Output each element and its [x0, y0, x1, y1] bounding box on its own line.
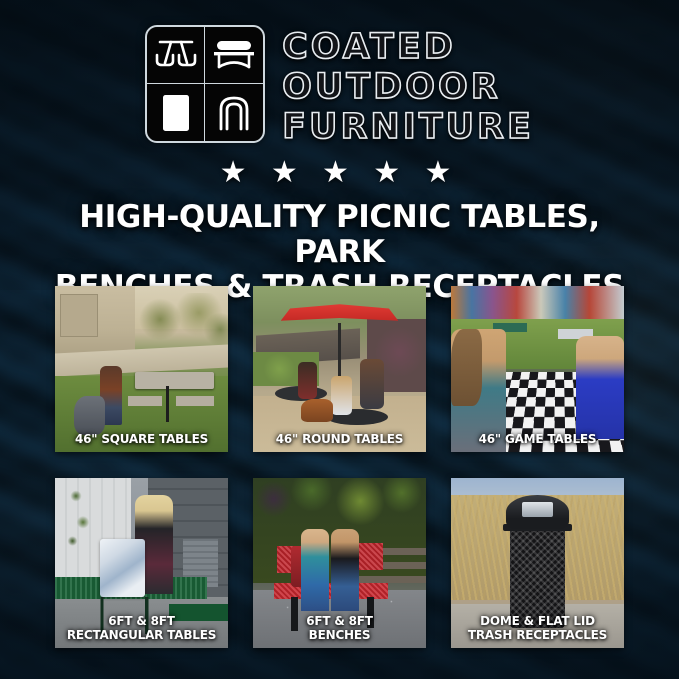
promo-banner: COATED OUTDOOR FURNITURE ★ ★ ★ ★ ★ HIGH-… [0, 0, 679, 679]
product-tile-benches[interactable]: 6FT & 8FT BENCHES [253, 478, 426, 648]
headline-line-1: HIGH-QUALITY PICNIC TABLES, PARK [30, 200, 649, 270]
brand-logo: COATED OUTDOOR FURNITURE [0, 25, 679, 147]
brand-wordmark: COATED OUTDOOR FURNITURE [282, 25, 534, 147]
bench-icon [205, 27, 263, 84]
product-tile-square-tables[interactable]: 46" SQUARE TABLES [55, 286, 228, 452]
product-grid: 46" SQUARE TABLES 46" ROUND TABLES 46" G… [55, 286, 624, 648]
logo-mark-icon [145, 25, 265, 143]
product-caption: 46" SQUARE TABLES [55, 432, 228, 446]
product-tile-game-tables[interactable]: 46" GAME TABLES [451, 286, 624, 452]
wordmark-line-2: OUTDOOR [282, 67, 534, 107]
product-tile-trash-receptacles[interactable]: DOME & FLAT LID TRASH RECEPTACLES [451, 478, 624, 648]
product-caption: 46" ROUND TABLES [253, 432, 426, 446]
picnic-table-icon [147, 27, 205, 84]
product-photo-square-tables [55, 286, 228, 452]
product-caption: 6FT & 8FT RECTANGULAR TABLES [55, 614, 228, 642]
product-caption: 46" GAME TABLES [451, 432, 624, 446]
product-caption: 6FT & 8FT BENCHES [253, 614, 426, 642]
trash-receptacle-icon [147, 84, 205, 141]
product-tile-rectangular-tables[interactable]: 6FT & 8FT RECTANGULAR TABLES [55, 478, 228, 648]
product-tile-round-tables[interactable]: 46" ROUND TABLES [253, 286, 426, 452]
bike-rack-icon [205, 84, 263, 141]
wordmark-line-1: COATED [282, 27, 534, 67]
wordmark-line-3: FURNITURE [282, 107, 534, 147]
product-photo-round-tables [253, 286, 426, 452]
product-photo-game-tables [451, 286, 624, 452]
product-caption: DOME & FLAT LID TRASH RECEPTACLES [451, 614, 624, 642]
star-rating: ★ ★ ★ ★ ★ [0, 158, 679, 188]
